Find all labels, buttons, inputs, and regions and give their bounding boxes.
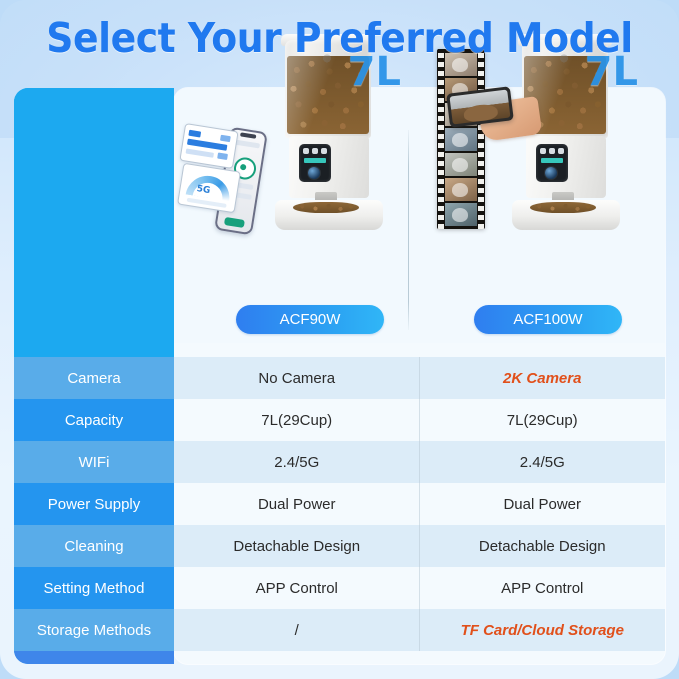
table-row: APP Control APP Control xyxy=(174,567,665,609)
value-power-supply-acf100w: Dual Power xyxy=(420,483,666,525)
panel-display-icon xyxy=(304,158,326,163)
table-row: Dual Power Dual Power xyxy=(174,483,665,525)
panel-button-icon xyxy=(312,148,318,154)
film-perforations xyxy=(478,49,484,229)
camera-lens-icon xyxy=(545,167,557,179)
phone-primary-button-icon xyxy=(224,217,245,228)
spec-label-column: Camera Capacity WIFi Power Supply Cleani… xyxy=(14,88,174,664)
app-mockup-group: 5G xyxy=(182,125,278,240)
spec-label-setting-method: Setting Method xyxy=(14,567,174,609)
gauge-label: 5G xyxy=(196,184,211,196)
value-cleaning-acf100w: Detachable Design xyxy=(420,525,666,567)
bowl-food xyxy=(293,202,359,213)
app-card-line xyxy=(188,130,201,138)
table-row: 2.4/5G 2.4/5G xyxy=(174,441,665,483)
value-cleaning-acf90w: Detachable Design xyxy=(174,525,420,567)
value-capacity-acf90w: 7L(29Cup) xyxy=(174,399,420,441)
table-row: 7L(29Cup) 7L(29Cup) xyxy=(174,399,665,441)
column-divider xyxy=(408,130,409,330)
value-camera-acf90w: No Camera xyxy=(174,357,420,399)
feeder-control-panel xyxy=(536,144,568,182)
panel-button-icon xyxy=(540,148,546,154)
film-frame-photo xyxy=(445,153,477,176)
spec-label-capacity: Capacity xyxy=(14,399,174,441)
phone-ui-bar xyxy=(234,139,260,148)
film-frame-photo xyxy=(445,178,477,201)
app-schedule-card xyxy=(179,123,238,169)
spec-label-camera: Camera xyxy=(14,357,174,399)
spec-label-storage-methods: Storage Methods xyxy=(14,609,174,651)
value-wifi-acf100w: 2.4/5G xyxy=(420,441,666,483)
phone-notch-icon xyxy=(240,132,256,138)
product-illustration-acf100w: 7L xyxy=(490,32,640,232)
panel-button-icon xyxy=(303,148,309,154)
model-badge-acf100w[interactable]: ACF100W xyxy=(474,305,622,334)
app-card-line xyxy=(220,135,231,142)
feeder-control-panel xyxy=(299,144,331,182)
app-card-line xyxy=(217,153,228,160)
spec-label-power-supply: Power Supply xyxy=(14,483,174,525)
value-power-supply-acf90w: Dual Power xyxy=(174,483,420,525)
app-network-card: 5G xyxy=(177,163,241,214)
panel-button-icon xyxy=(558,148,564,154)
live-view-screen xyxy=(450,90,511,125)
panel-button-icon xyxy=(321,148,327,154)
filmstrip-icon xyxy=(437,49,485,229)
spec-label-wifi: WIFi xyxy=(14,441,174,483)
model-badge-acf90w[interactable]: ACF90W xyxy=(236,305,384,334)
value-setting-method-acf100w: APP Control xyxy=(420,567,666,609)
table-row: No Camera 2K Camera xyxy=(174,357,665,399)
film-frame-photo xyxy=(445,203,477,226)
bowl-food xyxy=(530,202,596,213)
value-capacity-acf100w: 7L(29Cup) xyxy=(420,399,666,441)
value-setting-method-acf90w: APP Control xyxy=(174,567,420,609)
app-card-line xyxy=(186,148,214,157)
label-column-header-fill xyxy=(14,88,174,357)
comparison-infographic: Select Your Preferred Model 7L xyxy=(0,0,679,679)
value-storage-methods-acf100w: TF Card/Cloud Storage xyxy=(420,609,666,651)
page-title: Select Your Preferred Model xyxy=(27,14,652,62)
value-storage-methods-acf90w: / xyxy=(174,609,420,651)
table-row: / TF Card/Cloud Storage xyxy=(174,609,665,651)
value-wifi-acf90w: 2.4/5G xyxy=(174,441,420,483)
film-frame-photo xyxy=(445,128,477,151)
panel-display-icon xyxy=(541,158,563,163)
film-perforations xyxy=(438,49,444,229)
table-row: Detachable Design Detachable Design xyxy=(174,525,665,567)
camera-lens-icon xyxy=(308,167,320,179)
value-camera-acf100w: 2K Camera xyxy=(420,357,666,399)
spec-label-cleaning: Cleaning xyxy=(14,525,174,567)
panel-button-icon xyxy=(549,148,555,154)
